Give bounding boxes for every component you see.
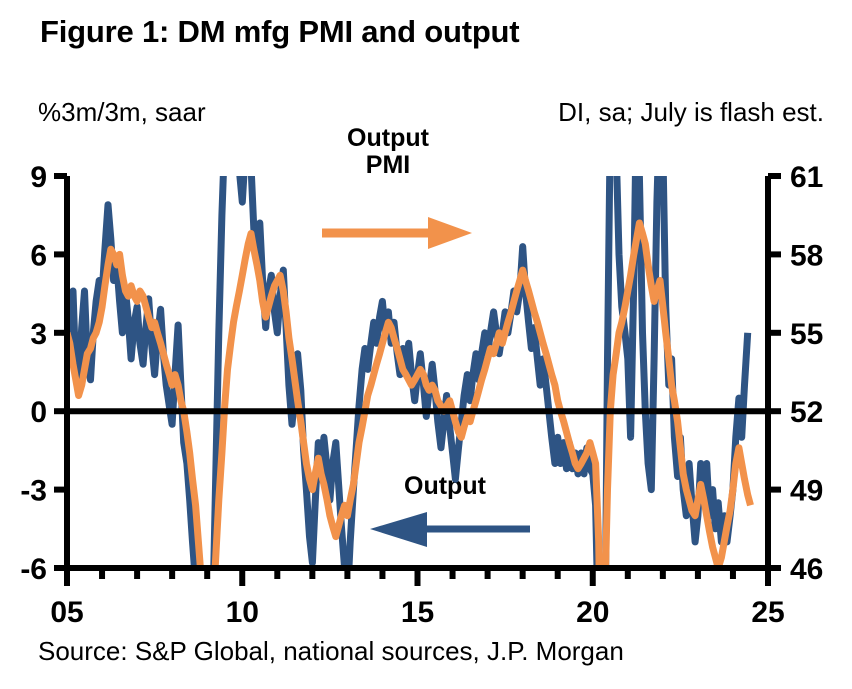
pmi-arrow-right bbox=[322, 217, 472, 249]
ytick-right-61: 61 bbox=[790, 161, 823, 194]
xtick-10: 10 bbox=[226, 596, 259, 629]
ytick-right-58: 58 bbox=[790, 239, 823, 272]
figure-container: Figure 1: DM mfg PMI and output %3m/3m, … bbox=[0, 0, 852, 689]
ytick-left-9: 9 bbox=[30, 161, 47, 194]
ytick-left--6: -6 bbox=[20, 553, 47, 586]
ytick-left--3: -3 bbox=[20, 475, 47, 508]
ytick-right-55: 55 bbox=[790, 318, 823, 351]
xtick-25: 25 bbox=[751, 596, 784, 629]
xtick-20: 20 bbox=[576, 596, 609, 629]
ytick-left-6: 6 bbox=[30, 239, 47, 272]
ytick-right-49: 49 bbox=[790, 475, 823, 508]
ytick-left-0: 0 bbox=[30, 396, 47, 429]
output-arrow-left bbox=[370, 512, 530, 547]
ytick-left-3: 3 bbox=[30, 318, 47, 351]
xtick-15: 15 bbox=[401, 596, 434, 629]
ytick-right-52: 52 bbox=[790, 396, 823, 429]
chart-plot-area: -6-303694649525558610510152025 bbox=[0, 0, 852, 689]
ytick-right-46: 46 bbox=[790, 553, 823, 586]
xtick-05: 05 bbox=[50, 596, 83, 629]
